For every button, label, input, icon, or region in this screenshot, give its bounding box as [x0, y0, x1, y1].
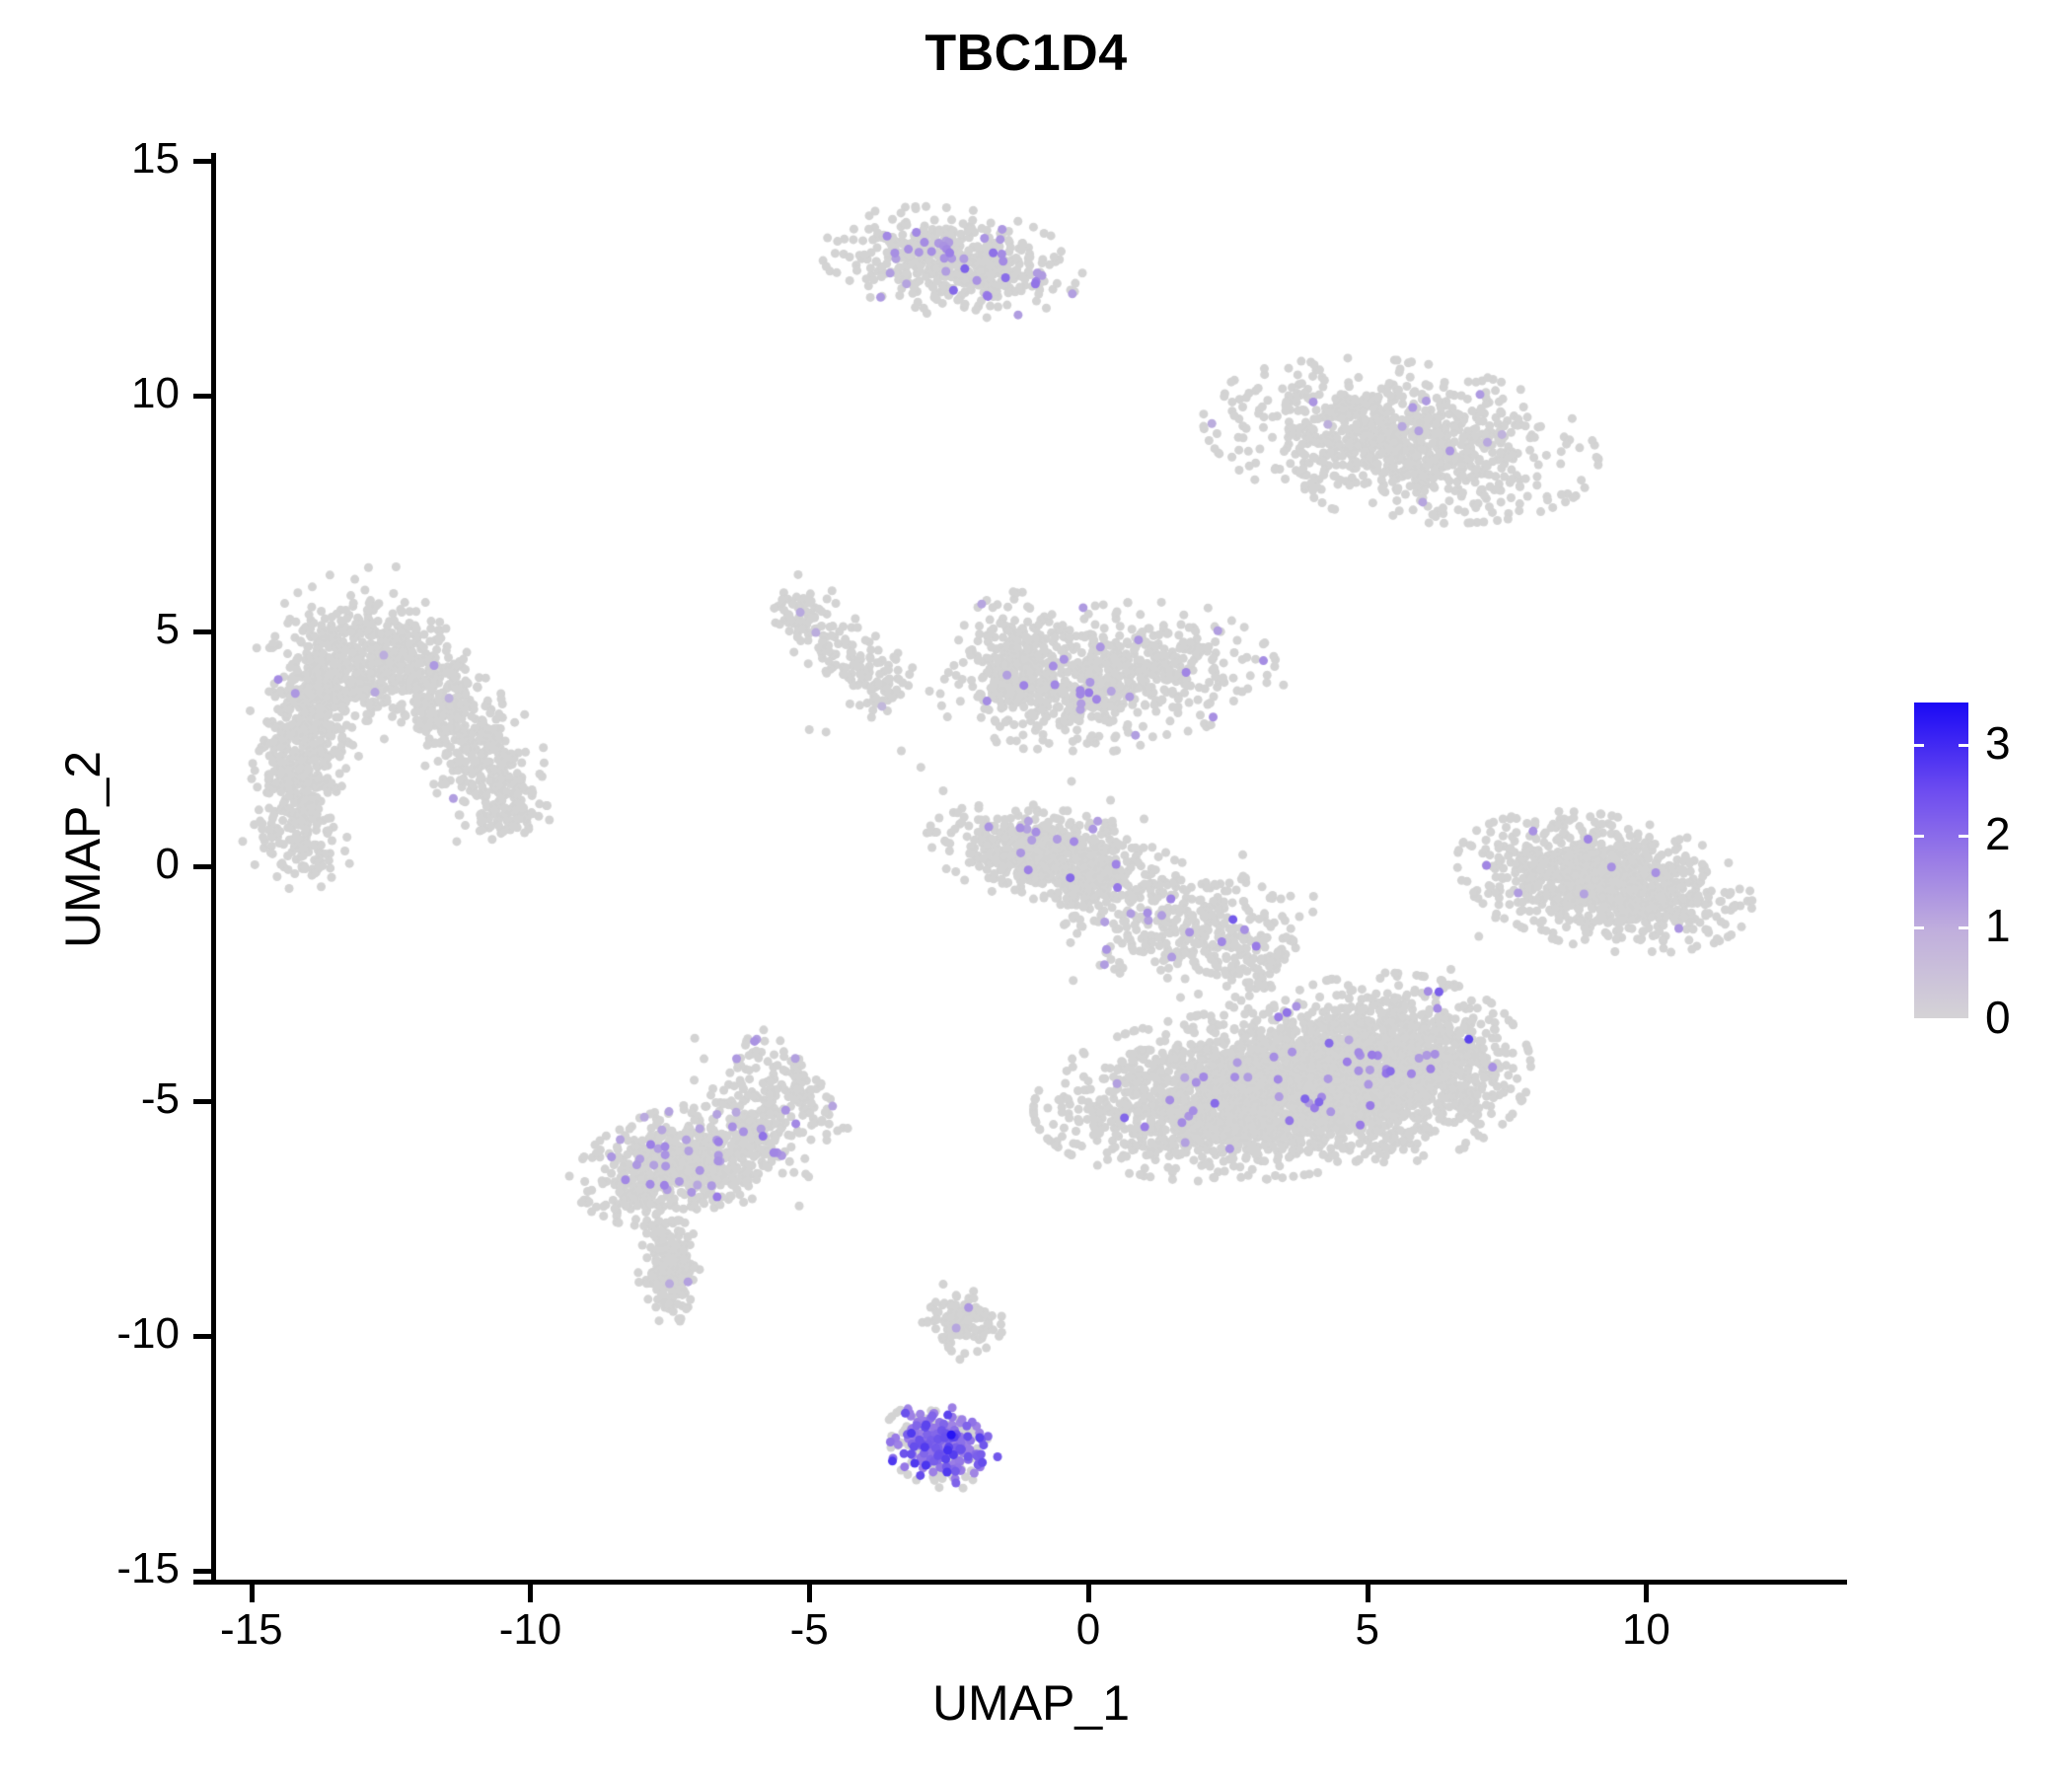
y-tick-mark — [193, 159, 211, 164]
x-tick-mark — [1086, 1585, 1091, 1602]
legend-tick-mark — [1959, 1018, 1968, 1021]
legend-tick-label: 0 — [1985, 995, 2011, 1040]
x-tick-mark — [1366, 1585, 1370, 1602]
y-tick-mark — [193, 1334, 211, 1339]
y-tick-label: 15 — [0, 137, 180, 181]
legend-tick-mark — [1959, 744, 1968, 747]
color-legend: 3210 — [1914, 691, 2062, 1046]
legend-tick-mark — [1914, 744, 1924, 747]
x-tick-mark — [250, 1585, 255, 1602]
legend-tick-mark — [1914, 1018, 1924, 1021]
x-tick-mark — [807, 1585, 812, 1602]
y-tick-label: -10 — [0, 1312, 180, 1356]
legend-tick-mark — [1914, 835, 1924, 838]
x-tick-label: -5 — [730, 1608, 888, 1652]
x-tick-label: -15 — [173, 1608, 331, 1652]
y-tick-mark — [193, 864, 211, 869]
x-tick-label: 0 — [1009, 1608, 1167, 1652]
legend-tick-label: 3 — [1985, 720, 2011, 766]
x-tick-mark — [528, 1585, 533, 1602]
x-tick-label: 10 — [1567, 1608, 1725, 1652]
x-tick-label: -10 — [451, 1608, 609, 1652]
y-tick-mark — [193, 1099, 211, 1104]
x-tick-mark — [1644, 1585, 1649, 1602]
legend-tick-mark — [1914, 926, 1924, 929]
umap-feature-plot: TBC1D4 151050-5-10-15 -15-10-50510 UMAP_… — [0, 0, 2072, 1776]
plot-panel — [215, 116, 1847, 1583]
legend-colorbar — [1914, 703, 1968, 1018]
x-tick-label: 5 — [1289, 1608, 1446, 1652]
y-tick-label: -15 — [0, 1547, 180, 1591]
y-tick-mark — [193, 629, 211, 634]
x-axis-line — [193, 1580, 1847, 1585]
x-axis-title: UMAP_1 — [215, 1675, 1847, 1731]
y-axis-title: UMAP_2 — [55, 455, 111, 1244]
legend-tick-label: 2 — [1985, 811, 2011, 856]
legend-tick-mark — [1959, 835, 1968, 838]
y-tick-label: 10 — [0, 372, 180, 415]
y-tick-mark — [193, 394, 211, 399]
y-axis-line — [211, 153, 216, 1583]
legend-tick-mark — [1959, 926, 1968, 929]
page-title: TBC1D4 — [0, 24, 2072, 83]
scatter-points-canvas — [215, 116, 1847, 1583]
legend-tick-label: 1 — [1985, 903, 2011, 948]
plot-title-text: TBC1D4 — [925, 24, 1127, 83]
y-tick-mark — [193, 1569, 211, 1574]
